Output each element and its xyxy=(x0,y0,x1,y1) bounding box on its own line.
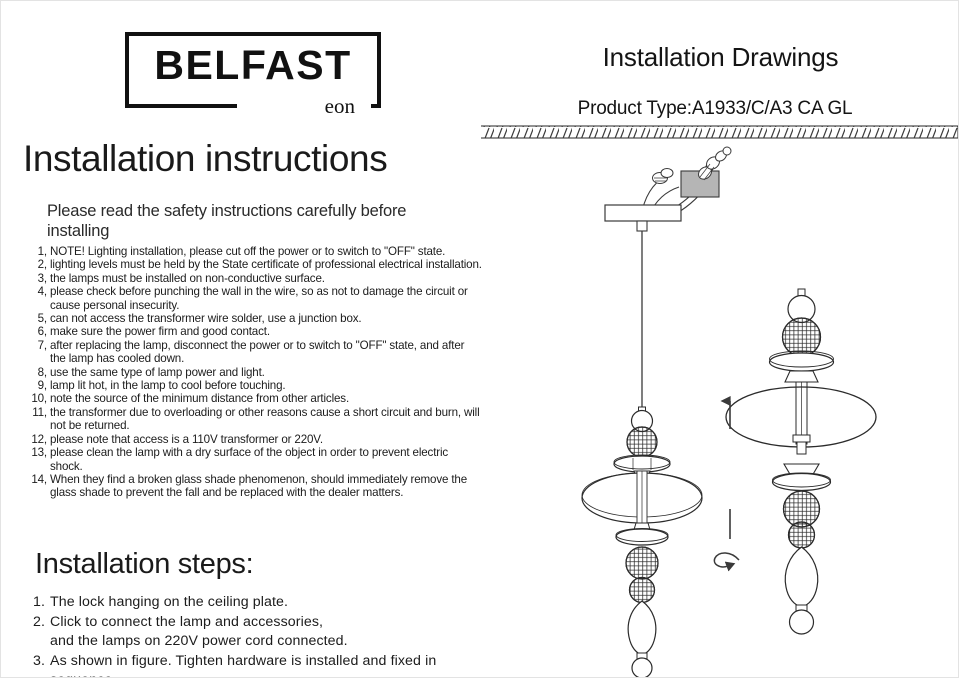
detail-disc xyxy=(770,351,834,371)
safety-note-item: 7,after replacing the lamp, disconnect t… xyxy=(27,339,483,366)
installation-step-text: Click to connect the lamp and accessorie… xyxy=(50,613,473,633)
safety-note-number: 14, xyxy=(27,473,50,486)
safety-note-text: use the same type of lamp power and ligh… xyxy=(50,366,483,379)
installation-step-item: 1.The lock hanging on the ceiling plate. xyxy=(33,593,473,613)
safety-note-item: 11,the transformer due to overloading or… xyxy=(27,406,483,433)
steps-heading: Installation steps: xyxy=(35,547,253,581)
installation-steps-list: 1.The lock hanging on the ceiling plate.… xyxy=(33,593,473,678)
safety-note-number: 7, xyxy=(27,339,50,352)
safety-note-item: 1,NOTE! Lighting installation, please cu… xyxy=(27,245,483,258)
safety-note-item: 14,When they find a broken glass shade p… xyxy=(27,473,483,500)
safety-note-item: 8,use the same type of lamp power and li… xyxy=(27,366,483,379)
pendant-disc-upper xyxy=(614,455,670,472)
safety-note-item: 12,please note that access is a 110V tra… xyxy=(27,433,483,446)
pendant-disc-lower xyxy=(616,529,668,546)
safety-note-number: 9, xyxy=(27,379,50,392)
safety-note-number: 5, xyxy=(27,312,50,325)
safety-note-number: 8, xyxy=(27,366,50,379)
installation-step-line: 2.Click to connect the lamp and accessor… xyxy=(33,613,473,633)
safety-note-number: 10, xyxy=(27,392,50,405)
installation-step-number: 1. xyxy=(33,593,50,613)
safety-note-text: the transformer due to overloading or ot… xyxy=(50,406,483,433)
safety-note-text: lighting levels must be held by the Stat… xyxy=(50,258,483,271)
installation-step-item: 2.Click to connect the lamp and accessor… xyxy=(33,613,473,652)
safety-note-text: When they find a broken glass shade phen… xyxy=(50,473,483,500)
safety-note-number: 2, xyxy=(27,258,50,271)
safety-note-text: note the source of the minimum distance … xyxy=(50,392,483,405)
detail-mesh-ball xyxy=(783,318,821,356)
safety-note-item: 4,please check before punching the wall … xyxy=(27,285,483,312)
safety-note-item: 6,make sure the power firm and good cont… xyxy=(27,325,483,338)
safety-note-number: 6, xyxy=(27,325,50,338)
safety-note-number: 13, xyxy=(27,446,50,459)
safety-note-item: 5,can not access the transformer wire so… xyxy=(27,312,483,325)
pendant-mesh-ball-top xyxy=(627,427,657,457)
safety-note-number: 12, xyxy=(27,433,50,446)
safety-note-number: 1, xyxy=(27,245,50,258)
installation-step-number: 2. xyxy=(33,613,50,633)
rotate-direction-arrow xyxy=(714,509,739,567)
installation-step-line: 3.As shown in figure. Tighten hardware i… xyxy=(33,652,473,678)
installation-diagram xyxy=(481,1,959,678)
main-pendant-assembly xyxy=(582,407,702,678)
safety-note-text: please check before punching the wall in… xyxy=(50,285,483,312)
safety-note-text: make sure the power firm and good contac… xyxy=(50,325,483,338)
pendant-mesh-ball-mid xyxy=(626,547,658,579)
brand-sub-name: eon xyxy=(325,94,355,118)
lower-finial-detail xyxy=(773,464,831,634)
ceiling-canopy-plate xyxy=(605,205,681,231)
installation-step-number: 3. xyxy=(33,652,50,672)
safety-note-text: please clean the lamp with a dry surface… xyxy=(50,446,483,473)
detail-lower-mesh-ball-2 xyxy=(789,522,815,548)
safety-note-text: lamp lit hot, in the lamp to cool before… xyxy=(50,379,483,392)
instructions-column: BELFAST eon Installation instructions Pl… xyxy=(1,1,481,678)
page-title: Installation instructions xyxy=(23,137,473,181)
drawings-column: Installation Drawings Product Type:A1933… xyxy=(481,1,959,678)
safety-note-number: 11, xyxy=(27,406,50,419)
brand-name: BELFAST xyxy=(129,45,377,86)
safety-note-number: 4, xyxy=(27,285,50,298)
brand-sub-wrapper: eon xyxy=(237,94,371,120)
safety-note-number: 3, xyxy=(27,272,50,285)
safety-note-item: 13,please clean the lamp with a dry surf… xyxy=(27,446,483,473)
detail-finial xyxy=(785,547,818,607)
hatched-ceiling-band xyxy=(481,126,958,138)
safety-subheading: Please read the safety instructions care… xyxy=(47,201,467,241)
installation-step-text: The lock hanging on the ceiling plate. xyxy=(50,593,473,613)
wire-connector-left xyxy=(653,169,674,184)
safety-note-item: 2,lighting levels must be held by the St… xyxy=(27,258,483,271)
safety-note-text: the lamps must be installed on non-condu… xyxy=(50,272,483,285)
upper-assembly-detail xyxy=(726,289,876,454)
installation-step-item: 3.As shown in figure. Tighten hardware i… xyxy=(33,652,473,678)
installation-step-text: As shown in figure. Tighten hardware is … xyxy=(50,652,473,678)
safety-note-item: 3,the lamps must be installed on non-con… xyxy=(27,272,483,285)
installation-step-line: 1.The lock hanging on the ceiling plate. xyxy=(33,593,473,613)
pendant-finial xyxy=(628,601,656,655)
pendant-mesh-ball-low xyxy=(630,578,655,603)
safety-notes-list: 1,NOTE! Lighting installation, please cu… xyxy=(27,245,483,500)
safety-note-item: 9,lamp lit hot, in the lamp to cool befo… xyxy=(27,379,483,392)
safety-note-text: after replacing the lamp, disconnect the… xyxy=(50,339,483,366)
safety-note-item: 10,note the source of the minimum distan… xyxy=(27,392,483,405)
installation-instruction-sheet: BELFAST eon Installation instructions Pl… xyxy=(0,0,959,678)
detail-lower-disc xyxy=(773,473,831,491)
pendant-bottom-ball xyxy=(632,658,652,678)
safety-note-text: can not access the transformer wire sold… xyxy=(50,312,483,325)
safety-note-text: NOTE! Lighting installation, please cut … xyxy=(50,245,483,258)
safety-note-text: please note that access is a 110V transf… xyxy=(50,433,483,446)
installation-step-continuation: and the lamps on 220V power cord connect… xyxy=(33,632,473,652)
